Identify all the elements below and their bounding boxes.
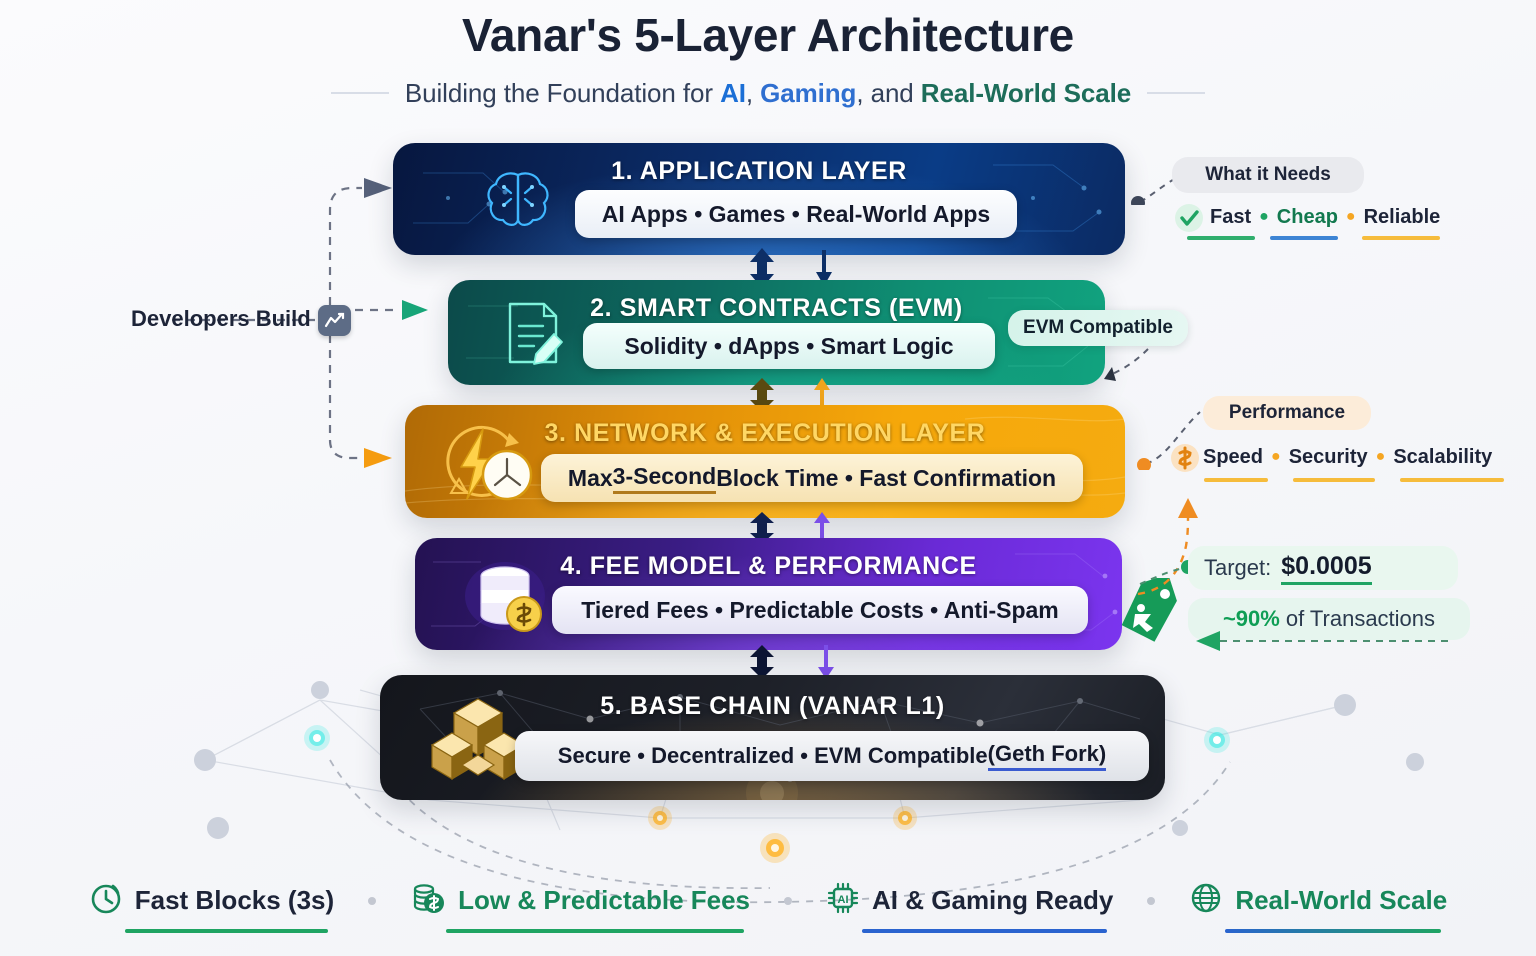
layer-card-smart-contracts[interactable]: 2. SMART CONTRACTS (EVM) Solidity • dApp…	[448, 280, 1105, 385]
layer5-pill: Secure • Decentralized • EVM Compatible …	[515, 731, 1149, 781]
subtitle-mid1: ,	[746, 78, 760, 108]
layer3-pill-highlight: 3-Second	[613, 463, 717, 494]
perf-bar-scalability	[1400, 478, 1504, 482]
footer-label-2: AI & Gaming Ready	[872, 885, 1113, 916]
layer5-title: 5. BASE CHAIN (VANAR L1)	[380, 692, 1165, 721]
target-value: $0.0005	[1281, 552, 1371, 585]
layer-card-base-chain[interactable]: 5. BASE CHAIN (VANAR L1) Secure • Decent…	[380, 675, 1165, 800]
footer-item-low-fees[interactable]: Low & Predictable Fees	[392, 881, 768, 920]
footer-separator-dot	[368, 897, 376, 905]
svg-text:AI: AI	[838, 894, 849, 906]
perf-bar-security	[1293, 478, 1375, 482]
needs-item-0: Fast	[1210, 206, 1251, 228]
layer3-pill: Max 3-Second Block Time • Fast Confirmat…	[541, 454, 1083, 502]
footer-label-0: Fast Blocks (3s)	[135, 885, 334, 916]
subtitle-mid2: , and	[856, 78, 920, 108]
needs-bar-cheap	[1270, 236, 1338, 240]
footer-label-3: Real-World Scale	[1235, 885, 1447, 916]
layer-card-fee-model[interactable]: 4. FEE MODEL & PERFORMANCE Tiered Fees •…	[415, 538, 1122, 650]
footer-separator-dot	[784, 897, 792, 905]
dollar-coin-icon	[1170, 443, 1200, 478]
needs-bar-reliable	[1362, 236, 1440, 240]
layer2-pill: Solidity • dApps • Smart Logic	[583, 323, 995, 369]
check-circle-icon	[1174, 203, 1204, 238]
footer-bar-0	[125, 929, 328, 933]
layer-card-application[interactable]: 1. APPLICATION LAYER AI Apps • Games • R…	[393, 143, 1125, 255]
subtitle-rule-right	[1147, 92, 1205, 94]
badge-transaction-share: ~90% of Transactions	[1188, 598, 1470, 640]
tx-rest: of Transactions	[1286, 606, 1435, 632]
connector-layer4-layer5	[740, 645, 860, 679]
subtitle-real-world-scale: Real-World Scale	[921, 78, 1131, 108]
subtitle-ai: AI	[720, 78, 746, 108]
footer-item-fast-blocks[interactable]: Fast Blocks (3s)	[71, 881, 352, 920]
subtitle-rule-left	[331, 92, 389, 94]
layer3-pill-post: Block Time • Fast Confirmation	[716, 465, 1056, 492]
footer-bar-2	[862, 929, 1107, 933]
clock-icon	[89, 881, 123, 920]
perf-item-1: Security	[1289, 446, 1368, 468]
footer-item-real-world-scale[interactable]: Real-World Scale	[1171, 881, 1465, 920]
trend-chart-icon	[318, 305, 351, 336]
footer-bar-3	[1225, 929, 1441, 933]
footer-separator-dot	[1147, 897, 1155, 905]
badge-evm-compatible: EVM Compatible	[1008, 310, 1188, 346]
performance-items-row: Speed●Security●Scalability	[1203, 446, 1492, 469]
perf-item-0: Speed	[1203, 446, 1263, 468]
layer3-pill-pre: Max	[568, 465, 613, 492]
price-tag-icon	[1113, 578, 1185, 651]
footer-bar-1	[446, 929, 744, 933]
target-label: Target:	[1204, 555, 1271, 581]
layer5-pill-pre: Secure • Decentralized • EVM Compatible	[558, 743, 988, 769]
page-title: Vanar's 5-Layer Architecture	[0, 8, 1536, 62]
perf-bar-speed	[1204, 478, 1268, 482]
badge-performance: Performance	[1203, 396, 1371, 430]
page-subtitle: Building the Foundation for AI, Gaming, …	[0, 78, 1536, 109]
layer2-title: 2. SMART CONTRACTS (EVM)	[448, 294, 1105, 323]
perf-sep-1: ●	[1376, 448, 1386, 465]
layer3-title: 3. NETWORK & EXECUTION LAYER	[405, 419, 1125, 448]
developers-build-label: Developers Build	[131, 306, 311, 332]
badge-target-fee: Target: $0.0005	[1188, 546, 1458, 590]
perf-sep-0: ●	[1271, 448, 1281, 465]
subtitle-pre: Building the Foundation for	[405, 78, 720, 108]
ai-chip-icon: AI	[826, 881, 860, 920]
tx-percent: ~90%	[1223, 606, 1280, 632]
infographic-canvas: Vanar's 5-Layer Architecture Building th…	[0, 0, 1536, 956]
layer1-title: 1. APPLICATION LAYER	[393, 157, 1125, 186]
footer-label-1: Low & Predictable Fees	[458, 885, 750, 916]
needs-bar-fast	[1187, 236, 1255, 240]
coins-icon	[410, 881, 446, 920]
needs-sep-0: ●	[1259, 208, 1269, 225]
footer-highlights: Fast Blocks (3s) Low & Predictable Fees	[0, 881, 1536, 920]
layer-card-network-execution[interactable]: 3. NETWORK & EXECUTION LAYER Max 3-Secon…	[405, 405, 1125, 518]
layer4-title: 4. FEE MODEL & PERFORMANCE	[415, 552, 1122, 581]
needs-item-2: Reliable	[1364, 206, 1441, 228]
badge-what-it-needs: What it Needs	[1172, 157, 1364, 193]
perf-item-2: Scalability	[1393, 446, 1492, 468]
footer-item-ai-gaming[interactable]: AI AI & Gaming Ready	[808, 881, 1131, 920]
needs-item-1: Cheap	[1277, 206, 1338, 228]
layer1-pill: AI Apps • Games • Real-World Apps	[575, 190, 1017, 238]
globe-icon	[1189, 881, 1223, 920]
needs-items-row: Fast●Cheap●Reliable	[1210, 206, 1440, 229]
layer4-pill: Tiered Fees • Predictable Costs • Anti-S…	[552, 586, 1088, 634]
layer5-pill-highlight: (Geth Fork)	[988, 741, 1107, 771]
subtitle-gaming: Gaming	[760, 78, 856, 108]
needs-sep-1: ●	[1346, 208, 1356, 225]
